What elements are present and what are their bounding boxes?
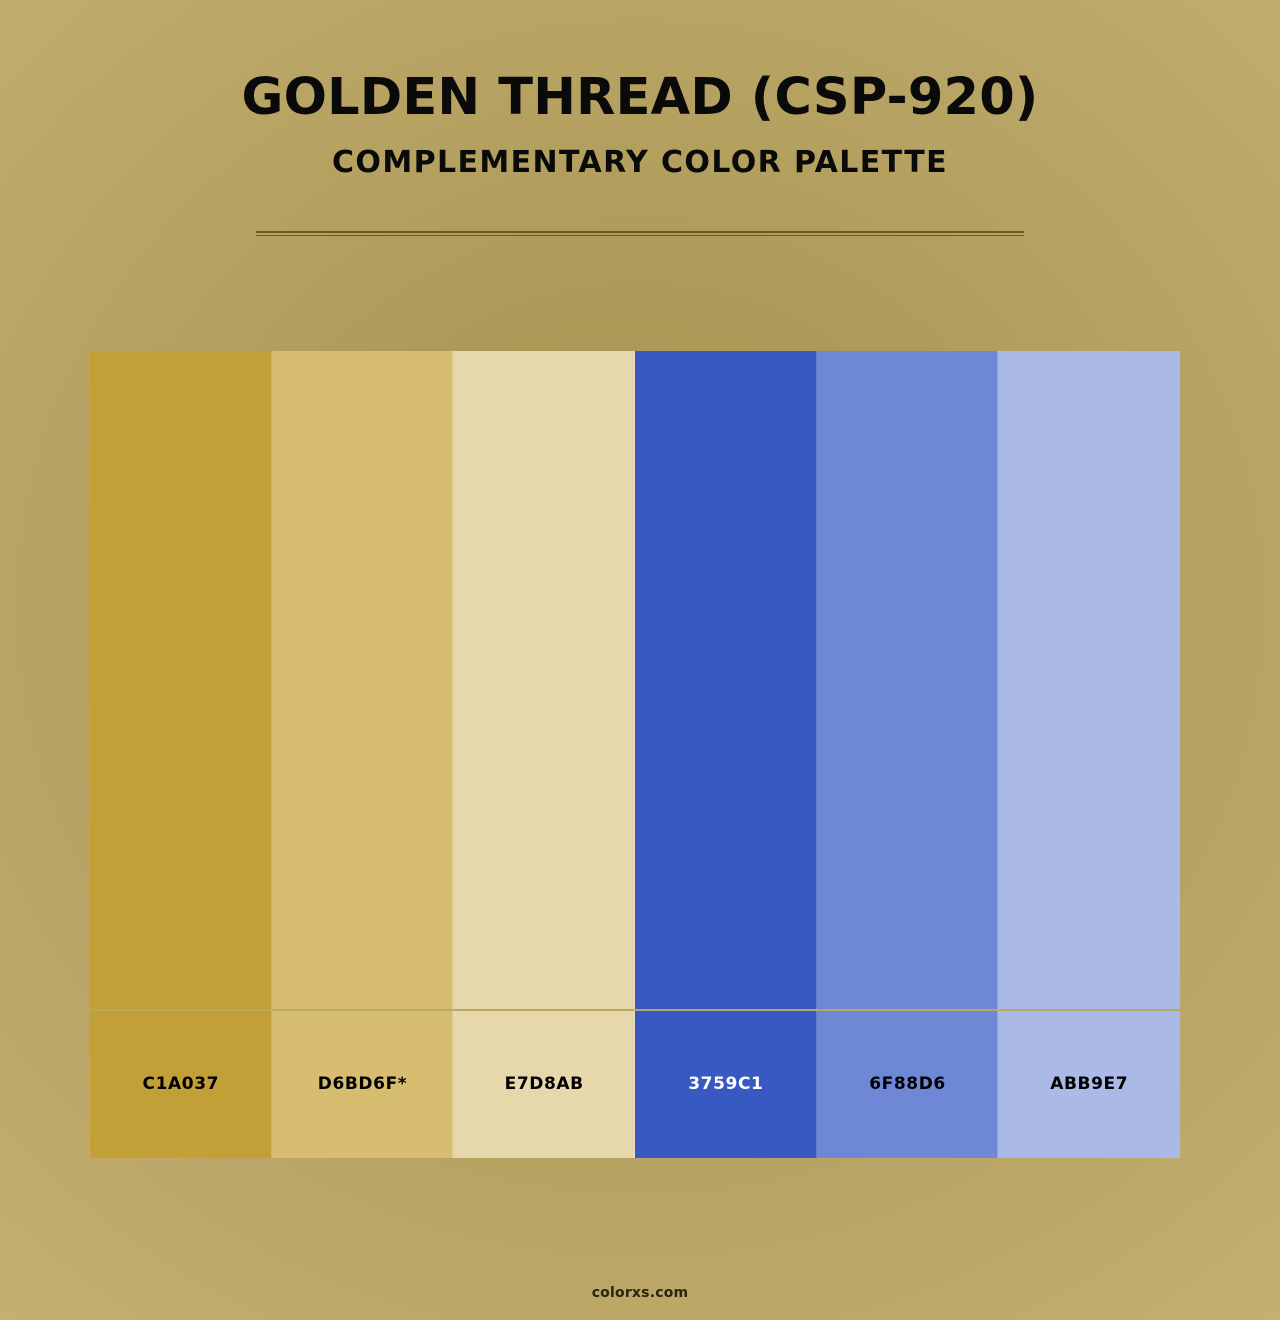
swatch-column-separator [816, 351, 817, 1158]
swatch-column-separator [997, 351, 998, 1158]
page-title: GOLDEN THREAD (CSP-920) [0, 0, 1280, 126]
swatch-label-band[interactable]: C1A037 [90, 1011, 272, 1158]
swatch-hex-label: ABB9E7 [1050, 1076, 1128, 1093]
swatch-color-block[interactable] [817, 351, 999, 1009]
page-header: GOLDEN THREAD (CSP-920) COMPLEMENTARY CO… [0, 0, 1280, 181]
swatch-column[interactable]: 6F88D6 [817, 351, 999, 1158]
swatch-hex-label: E7D8AB [505, 1076, 584, 1093]
swatch-color-block[interactable] [272, 351, 454, 1009]
swatch-column[interactable]: D6BD6F* [272, 351, 454, 1158]
swatch-label-band[interactable]: E7D8AB [453, 1011, 635, 1158]
swatch-hex-label: 3759C1 [688, 1076, 763, 1093]
swatch-hex-label: C1A037 [143, 1076, 220, 1093]
swatch-color-block[interactable] [998, 351, 1180, 1009]
divider-rule-top [256, 231, 1024, 233]
swatch-column[interactable]: C1A037 [90, 351, 272, 1158]
swatch-hex-label: 6F88D6 [869, 1076, 946, 1093]
swatch-column[interactable]: 3759C1 [635, 351, 817, 1158]
divider-rule-bottom [256, 235, 1024, 236]
swatch-color-block[interactable] [90, 351, 272, 1009]
swatch-column[interactable]: ABB9E7 [998, 351, 1180, 1158]
footer-site-label: colorxs.com [0, 1285, 1280, 1301]
color-palette-strip: C1A037D6BD6F*E7D8AB3759C16F88D6ABB9E7 [90, 351, 1180, 1158]
header-divider [256, 231, 1024, 236]
swatch-label-band[interactable]: 6F88D6 [817, 1011, 999, 1158]
swatch-column[interactable]: E7D8AB [453, 351, 635, 1158]
swatch-hex-label: D6BD6F* [318, 1076, 408, 1093]
palette-page: GOLDEN THREAD (CSP-920) COMPLEMENTARY CO… [0, 0, 1280, 1320]
swatch-label-band[interactable]: 3759C1 [635, 1011, 817, 1158]
swatch-column-separator [634, 351, 635, 1158]
swatch-column-separator [271, 351, 272, 1158]
swatch-color-block[interactable] [635, 351, 817, 1009]
swatch-label-band[interactable]: D6BD6F* [272, 1011, 454, 1158]
swatch-color-block[interactable] [453, 351, 635, 1009]
page-subtitle: COMPLEMENTARY COLOR PALETTE [0, 126, 1280, 181]
swatch-label-band[interactable]: ABB9E7 [998, 1011, 1180, 1158]
swatch-column-separator [452, 351, 453, 1158]
